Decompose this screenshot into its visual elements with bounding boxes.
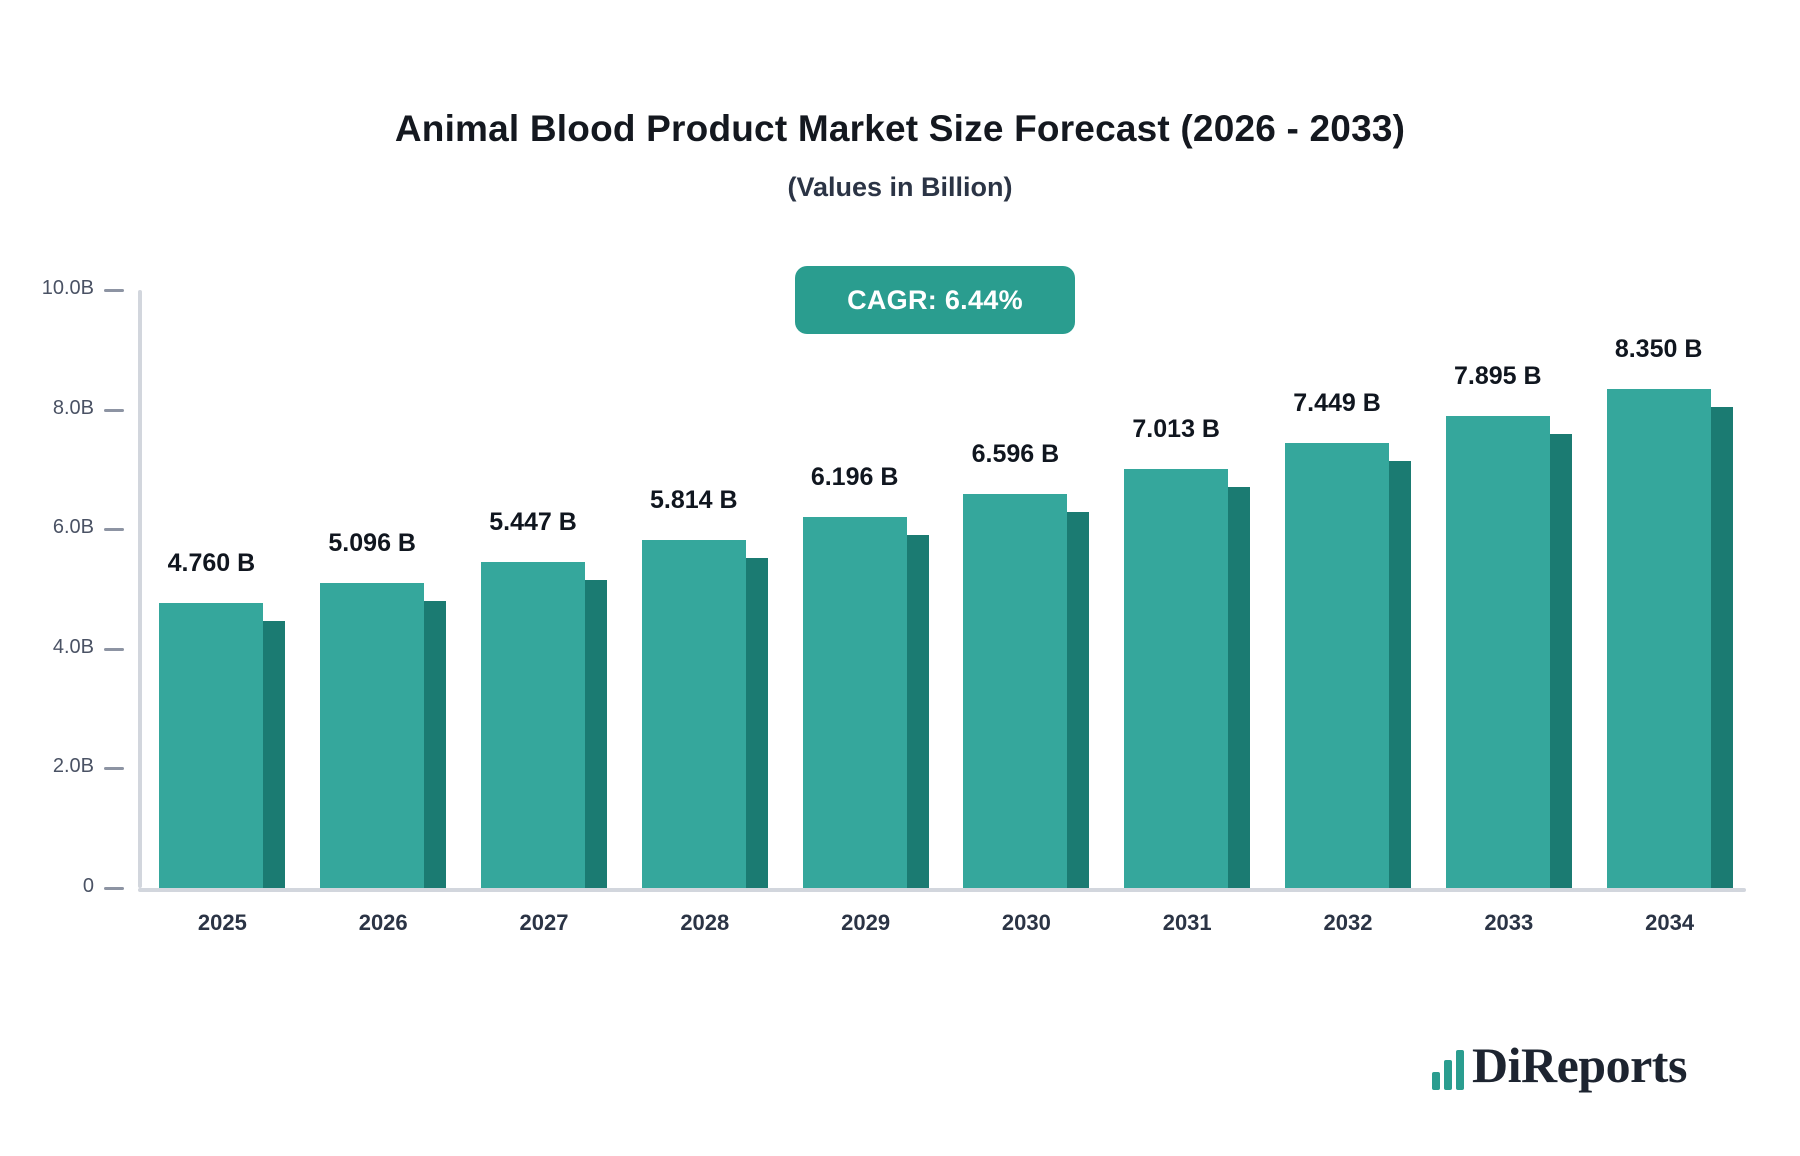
y-tick-label: 2.0B xyxy=(0,755,94,778)
bar-side-face xyxy=(907,535,929,888)
x-tick-label-2034: 2034 xyxy=(1570,910,1770,936)
bar-2025[interactable] xyxy=(159,603,263,888)
chart-subtitle: (Values in Billion) xyxy=(0,172,1800,203)
bar-side-face xyxy=(1711,407,1733,888)
bar-front-face xyxy=(1285,443,1389,888)
y-tick-dash xyxy=(104,648,124,651)
bar-2034[interactable] xyxy=(1607,389,1711,888)
chart-title: Animal Blood Product Market Size Forecas… xyxy=(0,108,1800,150)
bar-side-face xyxy=(1550,434,1572,888)
bar-value-label: 7.449 B xyxy=(1217,389,1457,418)
bar-front-face xyxy=(320,583,424,888)
bar-2027[interactable] xyxy=(481,562,585,888)
y-tick-label: 10.0B xyxy=(0,277,94,300)
bar-2032[interactable] xyxy=(1285,443,1389,888)
y-tick-dash xyxy=(104,289,124,292)
bar-front-face xyxy=(963,494,1067,888)
y-tick-label: 4.0B xyxy=(0,636,94,659)
bar-2033[interactable] xyxy=(1446,416,1550,888)
bar-2030[interactable] xyxy=(963,494,1067,888)
y-tick-dash xyxy=(104,409,124,412)
bar-front-face xyxy=(1446,416,1550,888)
direports-logo: DiReports xyxy=(1432,1040,1687,1090)
bar-front-face xyxy=(1607,389,1711,888)
bar-2031[interactable] xyxy=(1124,469,1228,888)
bar-side-face xyxy=(1228,487,1250,888)
bar-front-face xyxy=(481,562,585,888)
bar-side-face xyxy=(1389,461,1411,888)
bar-front-face xyxy=(803,517,907,888)
bar-front-face xyxy=(642,540,746,888)
y-tick-label: 8.0B xyxy=(0,397,94,420)
bar-side-face xyxy=(746,558,768,888)
bar-side-face xyxy=(585,580,607,888)
bar-2026[interactable] xyxy=(320,583,424,888)
bar-value-label: 8.350 B xyxy=(1539,335,1779,364)
plot-area: 4.760 B5.096 B5.447 B5.814 B6.196 B6.596… xyxy=(138,290,1746,888)
bar-front-face xyxy=(159,603,263,888)
logo-text: DiReports xyxy=(1472,1040,1687,1090)
bar-value-label: 6.596 B xyxy=(895,440,1135,469)
bar-side-face xyxy=(1067,512,1089,888)
y-tick-dash xyxy=(104,528,124,531)
y-tick-dash xyxy=(104,887,124,890)
chart-page: Animal Blood Product Market Size Forecas… xyxy=(0,0,1800,1156)
bar-side-face xyxy=(424,601,446,888)
bar-value-label: 7.013 B xyxy=(1056,415,1296,444)
bar-front-face xyxy=(1124,469,1228,888)
x-axis-line xyxy=(138,888,1746,892)
bar-2028[interactable] xyxy=(642,540,746,888)
bar-side-face xyxy=(263,621,285,888)
bars-layer: 4.760 B5.096 B5.447 B5.814 B6.196 B6.596… xyxy=(138,290,1746,888)
bar-value-label: 7.895 B xyxy=(1378,362,1618,391)
bar-2029[interactable] xyxy=(803,517,907,888)
bar-chart-icon xyxy=(1432,1050,1464,1090)
y-tick-dash xyxy=(104,767,124,770)
y-tick-label: 0 xyxy=(0,875,94,898)
y-tick-label: 6.0B xyxy=(0,516,94,539)
